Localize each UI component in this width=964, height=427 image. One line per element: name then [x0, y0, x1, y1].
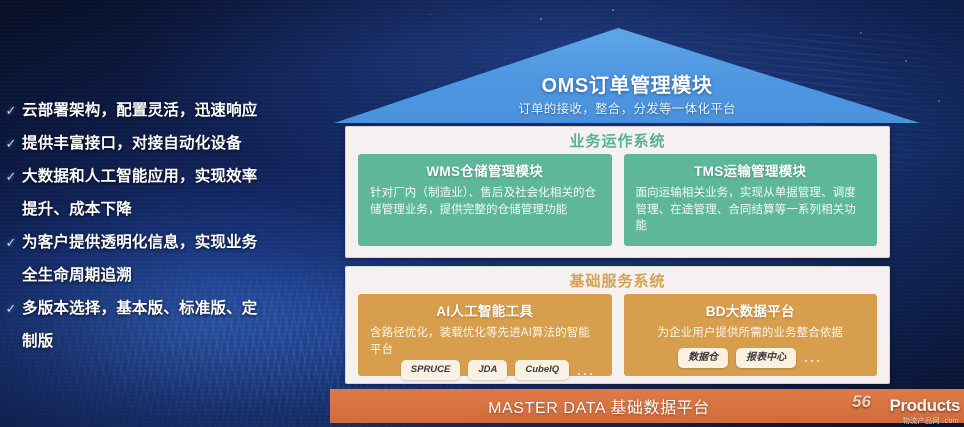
tag-spruce[interactable]: SPRUCE	[401, 360, 461, 380]
oms-subtitle: 订单的接收，整合，分发等一体化平台	[334, 99, 920, 119]
wms-card-description: 针对厂内（制造业）、售后及社会化相关的仓储管理业务，提供完整的仓储管理功能	[370, 185, 600, 218]
business-operations-cards: WMS仓储管理模块 针对厂内（制造业）、售后及社会化相关的仓储管理业务，提供完整…	[346, 154, 889, 246]
bd-card-title: BD大数据平台	[636, 302, 866, 321]
list-item-label: 多版本选择，基本版、标准版、定	[22, 294, 258, 324]
ai-card-title: AI人工智能工具	[370, 302, 600, 321]
list-item-label: 云部署架构，配置灵活，迅速响应	[22, 96, 258, 126]
list-item-label: 提供丰富接口，对接自动化设备	[22, 129, 242, 159]
tag-data-warehouse[interactable]: 数据仓	[678, 348, 728, 368]
tms-card-title: TMS运输管理模块	[636, 162, 866, 181]
watermark-brand: Products	[890, 396, 960, 416]
bd-card-description: 为企业用户提供所需的业务整合依据	[636, 325, 866, 342]
ai-card-description: 含路径优化，装载优化等先进AI算法的智能平台	[370, 325, 600, 358]
base-services-title: 基础服务系统	[346, 267, 889, 294]
check-icon: ✓	[0, 162, 22, 192]
list-item-continuation: 提升、成本下降	[0, 195, 330, 225]
roof-text-group: OMS订单管理模块 订单的接收，整合，分发等一体化平台	[334, 73, 920, 119]
watermark-number: 56	[852, 392, 871, 412]
list-item: ✓ 为客户提供透明化信息，实现业务	[0, 228, 330, 258]
list-item: ✓ 提供丰富接口，对接自动化设备	[0, 129, 330, 159]
feature-list: ✓ 云部署架构，配置灵活，迅速响应 ✓ 提供丰富接口，对接自动化设备 ✓ 大数据…	[0, 96, 330, 360]
base-services-panel: 基础服务系统 AI人工智能工具 含路径优化，装载优化等先进AI算法的智能平台 S…	[345, 266, 890, 384]
check-icon: ✓	[0, 96, 22, 126]
list-item-label: 制版	[22, 327, 53, 357]
bd-more-dots: ...	[804, 350, 822, 365]
tms-module-card[interactable]: TMS运输管理模块 面向运输相关业务，实现从单据管理、调度管理、在途管理、合同结…	[624, 154, 878, 246]
list-item: ✓ 云部署架构，配置灵活，迅速响应	[0, 96, 330, 126]
check-icon: ✓	[0, 228, 22, 258]
list-item-continuation: 全生命周期追溯	[0, 261, 330, 291]
base-services-cards: AI人工智能工具 含路径优化，装载优化等先进AI算法的智能平台 SPRUCE J…	[346, 294, 889, 376]
tag-report-center[interactable]: 报表中心	[736, 348, 796, 368]
ai-more-dots: ...	[577, 363, 595, 378]
wms-module-card[interactable]: WMS仓储管理模块 针对厂内（制造业）、售后及社会化相关的仓储管理业务，提供完整…	[358, 154, 612, 246]
list-item-label: 大数据和人工智能应用，实现效率	[22, 162, 258, 192]
watermark-logo: 56 Products 物流产品网 .com	[850, 390, 962, 427]
check-icon: ✓	[0, 294, 22, 324]
oms-title: OMS订单管理模块	[334, 73, 920, 99]
list-item: ✓ 多版本选择，基本版、标准版、定	[0, 294, 330, 324]
list-item-continuation: 制版	[0, 327, 330, 357]
check-icon: ✓	[0, 129, 22, 159]
oms-roof: OMS订单管理模块 订单的接收，整合，分发等一体化平台	[334, 28, 920, 123]
wms-card-title: WMS仓储管理模块	[370, 162, 600, 181]
list-item-label: 为客户提供透明化信息，实现业务	[22, 228, 258, 258]
tms-card-description: 面向运输相关业务，实现从单据管理、调度管理、在途管理、合同结算等一系列相关功能	[636, 185, 866, 235]
list-item-label: 提升、成本下降	[22, 195, 132, 225]
tag-cubeiq[interactable]: CubeIQ	[515, 360, 569, 380]
bd-platform-card[interactable]: BD大数据平台 为企业用户提供所需的业务整合依据 数据仓 报表中心 ...	[624, 294, 878, 376]
list-item-label: 全生命周期追溯	[22, 261, 132, 291]
ai-tag-row: SPRUCE JDA CubeIQ ...	[370, 360, 600, 380]
ai-tools-card[interactable]: AI人工智能工具 含路径优化，装载优化等先进AI算法的智能平台 SPRUCE J…	[358, 294, 612, 376]
tag-jda[interactable]: JDA	[468, 360, 507, 380]
list-item: ✓ 大数据和人工智能应用，实现效率	[0, 162, 330, 192]
business-operations-panel: 业务运作系统 WMS仓储管理模块 针对厂内（制造业）、售后及社会化相关的仓储管理…	[345, 126, 890, 258]
bd-tag-row: 数据仓 报表中心 ...	[636, 348, 866, 368]
business-operations-title: 业务运作系统	[346, 127, 889, 154]
watermark-subtext: 物流产品网 .com	[903, 416, 959, 426]
master-data-label: MASTER DATA 基础数据平台	[488, 394, 710, 418]
